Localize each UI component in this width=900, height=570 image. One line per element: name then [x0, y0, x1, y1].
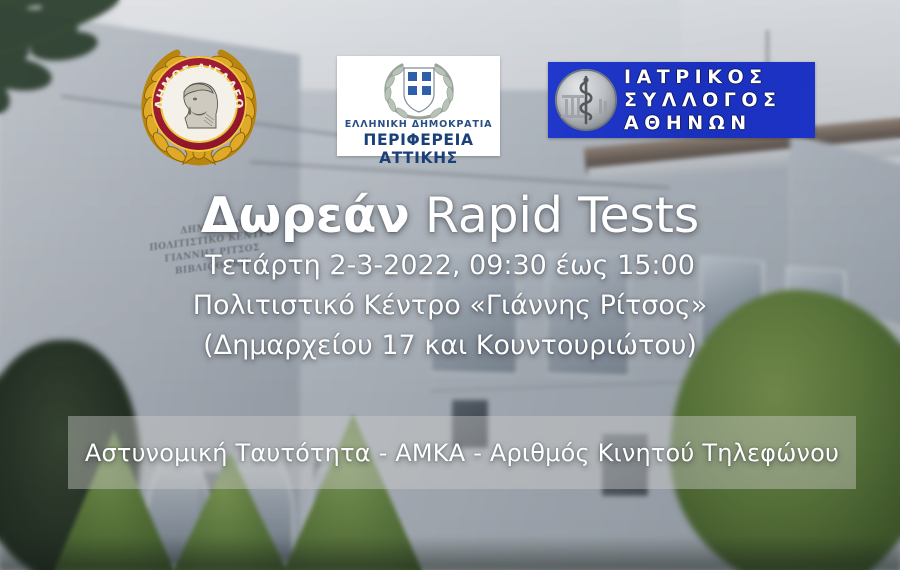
- isa-line-3: ΑΘΗΝΩΝ: [624, 112, 811, 135]
- attica-line-1: ΕΛΛΗΝΙΚΗ ΔΗΜΟΚΡΑΤΙΑ: [337, 119, 500, 130]
- address-line: (Δημαρχείου 17 και Κουντουριώτου): [0, 326, 900, 366]
- requirements-text: Αστυνομική Ταυτότητα - ΑΜΚΑ - Αριθμός Κι…: [85, 439, 839, 467]
- region-of-attica-logo: ΕΛΛΗΝΙΚΗ ΔΗΜΟΚΡΑΤΙΑ ΠΕΡΙΦΕΡΕΙΑ ΑΤΤΙΚΗΣ: [337, 56, 500, 156]
- cleisthenes-bust-icon: [178, 80, 222, 132]
- venue-line: Πολιτιστικό Κέντρο «Γιάννης Ρίτσος»: [0, 286, 900, 326]
- requirements-band: Αστυνομική Ταυτότητα - ΑΜΚΑ - Αριθμός Κι…: [68, 416, 856, 489]
- date-and-time-line: Τετάρτη 2-3-2022, 09:30 έως 15:00: [0, 246, 900, 286]
- athens-medical-association-text: ΙΑΤΡΙΚΟΣ ΣΥΛΛΟΓΟΣ ΑΘΗΝΩΝ: [624, 66, 811, 135]
- headline-free-word: Δωρεάν: [201, 187, 410, 244]
- municipality-of-aigaleo-seal: ΔΗΜΟΣ ΑΙΓΑΛΕΩ ΚΛΕΙΣΘΕΝΗΣ: [137, 46, 261, 170]
- rapid-tests-announcement-poster: ΔΗΜΟΤΙΚΟ ΠΟΛΙΤΙΣΤΙΚΟ ΚΕΝΤΡΟ ΓΙΑΝΝΗΣ ΡΙΤΣ…: [0, 0, 900, 570]
- headline-rapid-tests: Rapid Tests: [410, 187, 700, 244]
- attica-line-2: ΠΕΡΙΦΕΡΕΙΑ ΑΤΤΙΚΗΣ: [337, 131, 500, 167]
- page-title: Δωρεάν Rapid Tests: [0, 186, 900, 246]
- athens-medical-association-logo: ΙΑΤΡΙΚΟΣ ΣΥΛΛΟΓΟΣ ΑΘΗΝΩΝ: [548, 62, 815, 138]
- announcement-text-block: Δωρεάν Rapid Tests Τετάρτη 2-3-2022, 09:…: [0, 186, 900, 366]
- asclepius-coin-icon: [555, 69, 617, 131]
- greek-coat-of-arms-icon: [377, 60, 461, 122]
- isa-line-2: ΣΥΛΛΟΓΟΣ: [624, 89, 811, 112]
- isa-line-1: ΙΑΤΡΙΚΟΣ: [624, 66, 811, 89]
